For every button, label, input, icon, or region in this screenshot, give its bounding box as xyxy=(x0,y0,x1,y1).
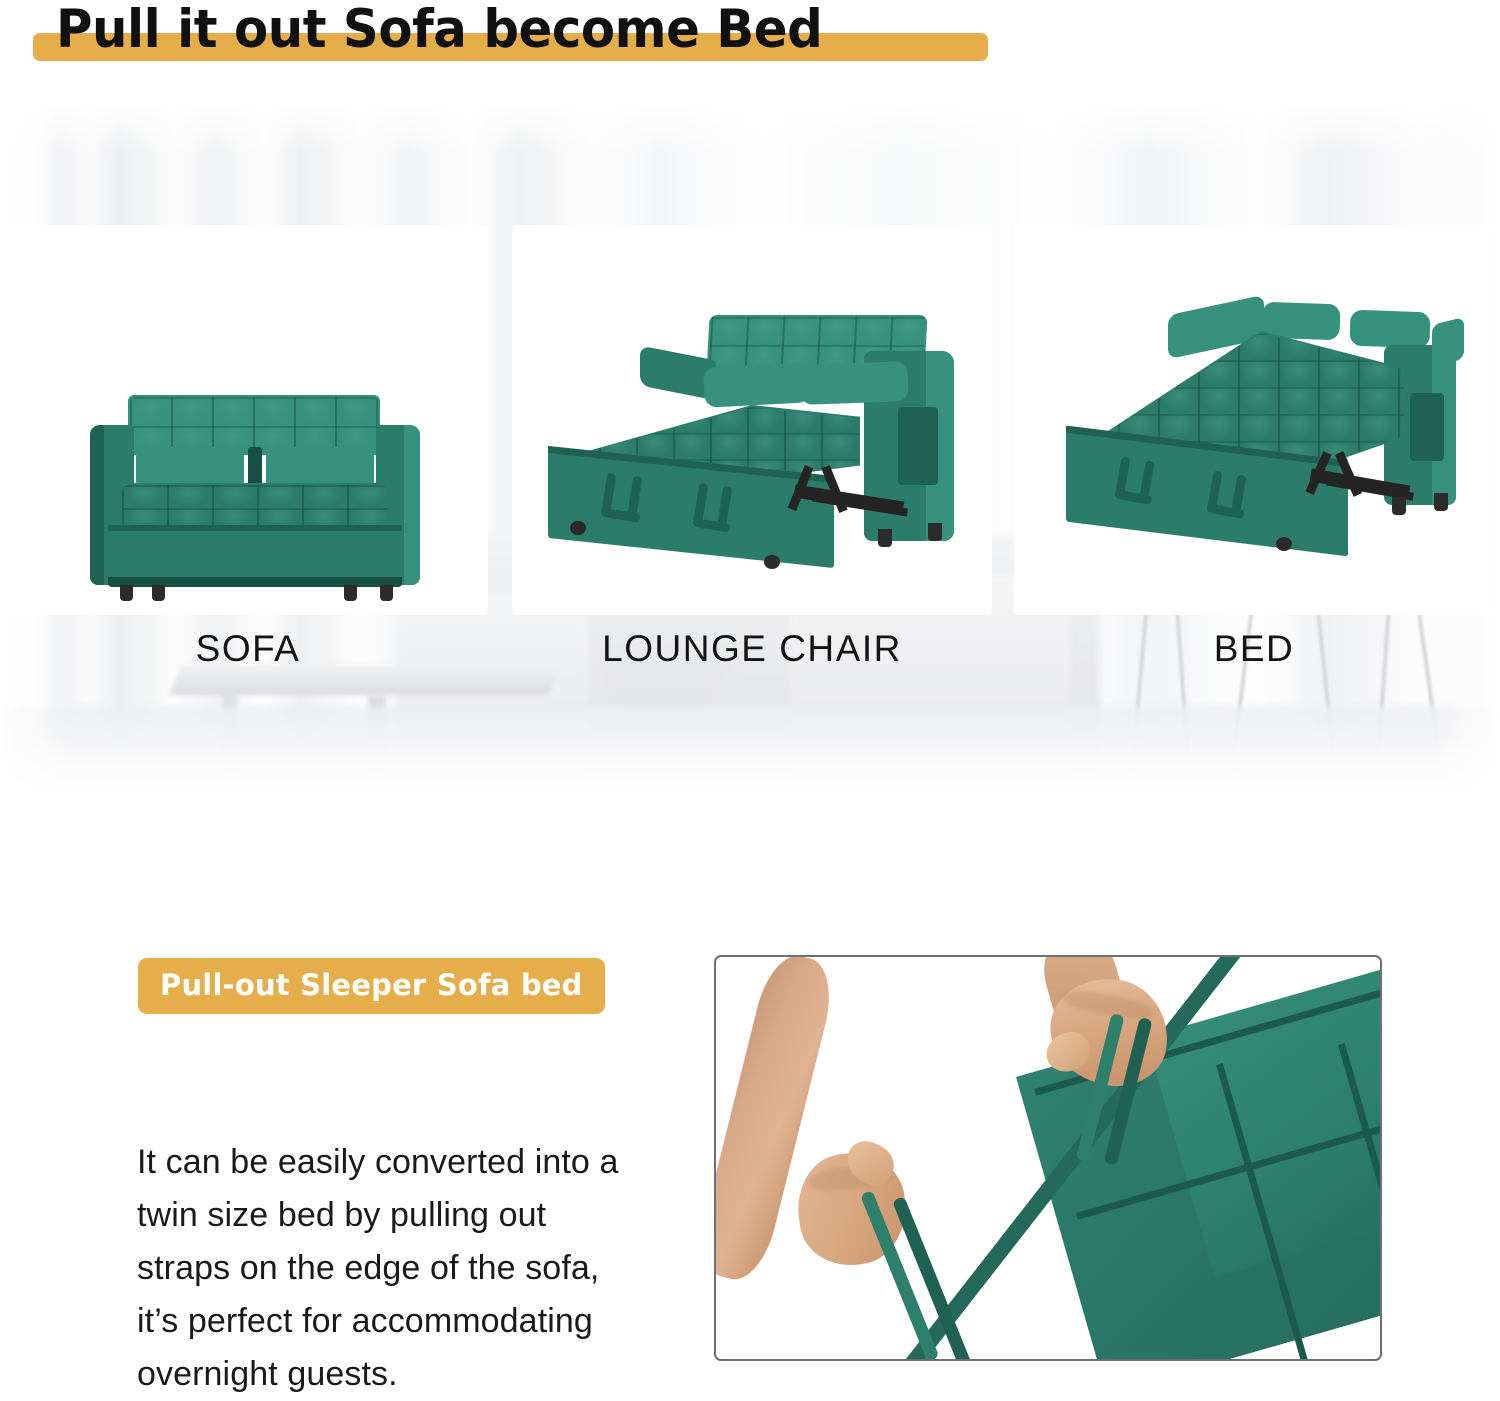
sofa-closed-illustration xyxy=(8,225,488,615)
product-card-sofa[interactable] xyxy=(8,225,488,615)
feature-body-text: It can be easily converted into a twin s… xyxy=(137,1136,647,1401)
product-card-lounge-chair[interactable] xyxy=(512,225,992,615)
strap-pull-photo xyxy=(714,955,1382,1361)
lounge-chair-illustration xyxy=(512,225,992,615)
card-caption-sofa: SOFA xyxy=(8,628,488,670)
hero-section: SOFA LOUNGE CHAIR BED xyxy=(0,105,1500,797)
card-caption-lounge-chair: LOUNGE CHAIR xyxy=(512,628,992,670)
product-card-row xyxy=(0,105,1500,797)
card-caption-bed: BED xyxy=(1014,628,1494,670)
title-banner: Pull it out Sofa become Bed xyxy=(0,0,1500,105)
bed-illustration xyxy=(1014,225,1494,615)
product-card-bed[interactable] xyxy=(1014,225,1494,615)
page-title: Pull it out Sofa become Bed xyxy=(56,0,822,63)
feature-badge: Pull-out Sleeper Sofa bed xyxy=(138,958,605,1014)
